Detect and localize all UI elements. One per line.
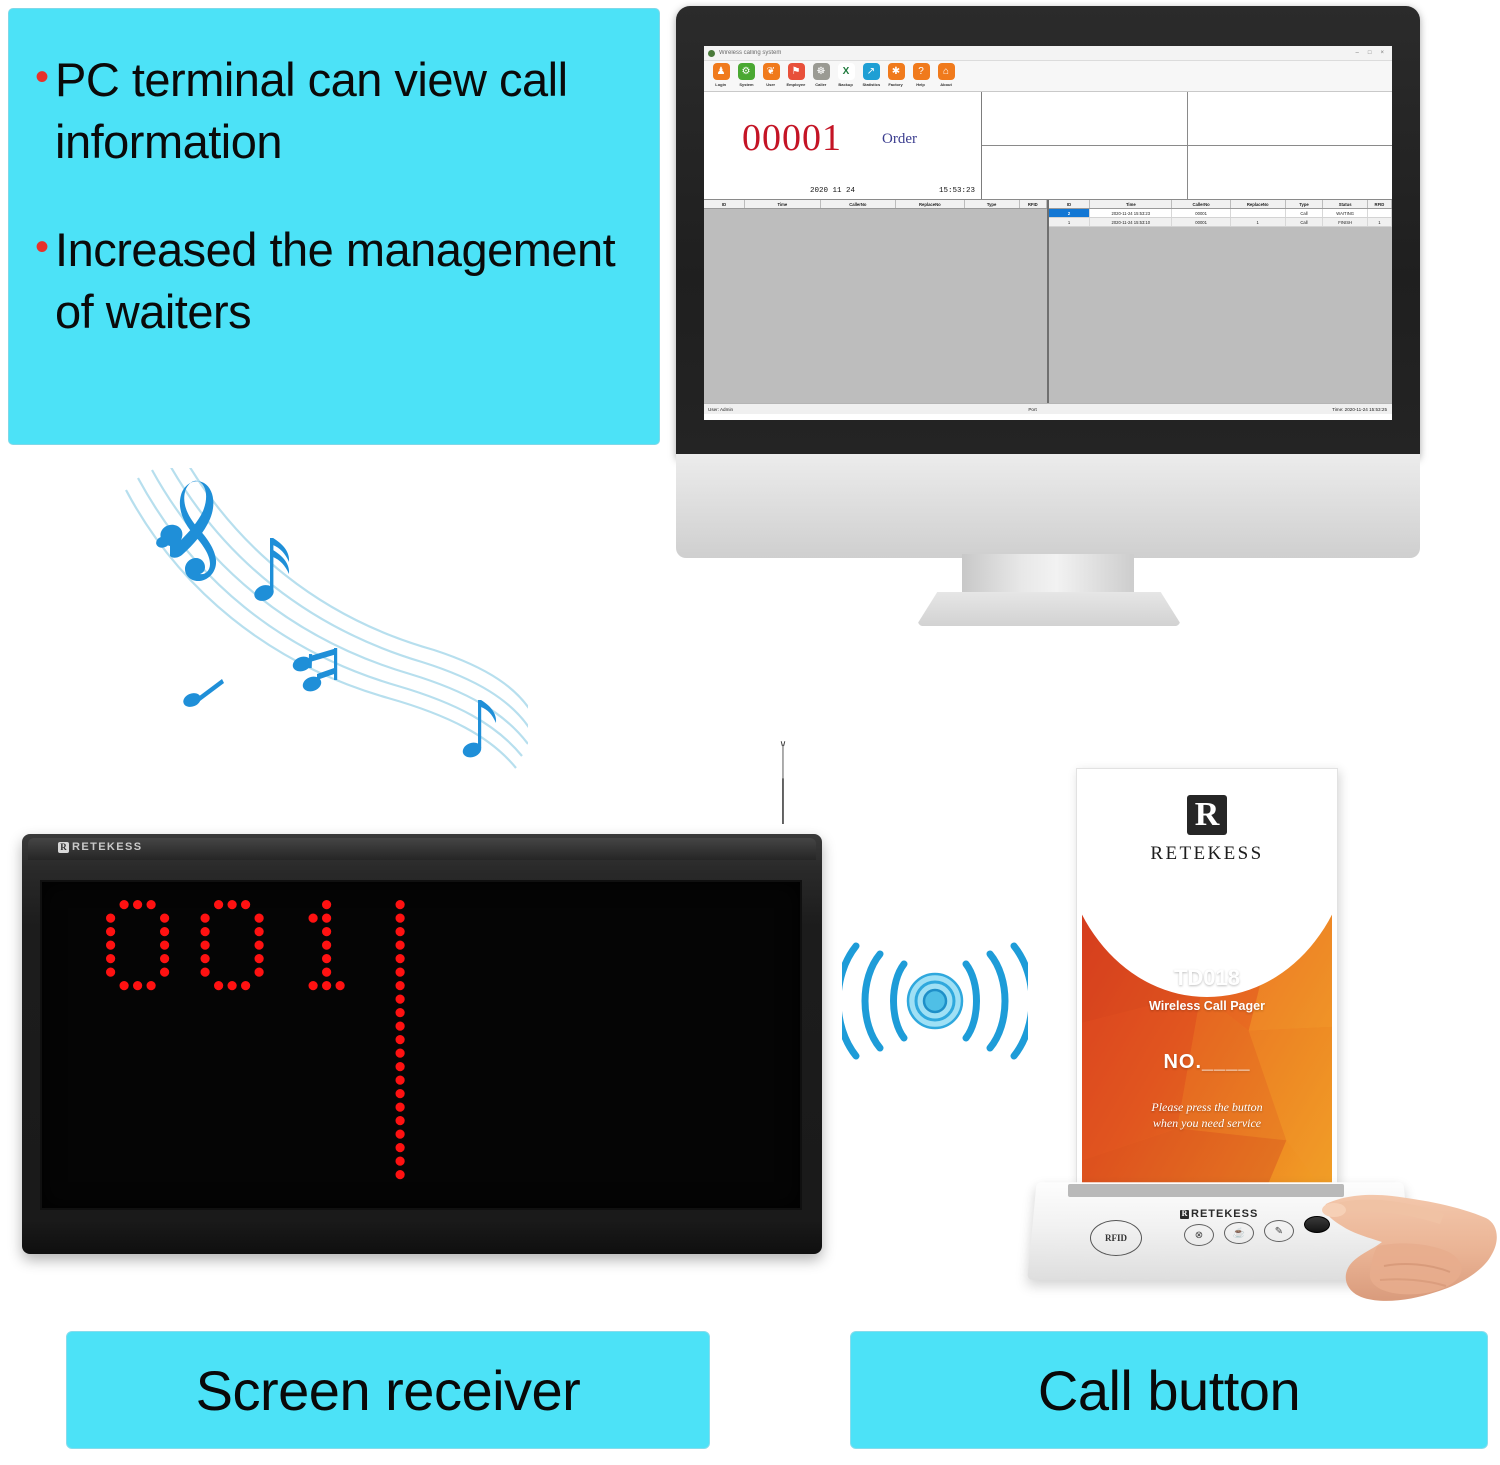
retekess-logo-mark: R (1187, 795, 1227, 835)
window-title: Wireless calling system (719, 50, 781, 56)
excel-icon: X (838, 63, 855, 80)
toolbar-item-label: Factory (889, 82, 903, 87)
display-cell (982, 146, 1188, 199)
table-cell: Call (1286, 218, 1324, 226)
status-time: Time: 2020-11-24 15:53:25 (1332, 407, 1392, 412)
column-header[interactable]: ReplaceNo (896, 200, 965, 208)
column-header[interactable]: CallerNo (1172, 200, 1230, 208)
monitor-bezel: Wireless calling system – □ × ♟Login⚙Sys… (676, 6, 1420, 458)
toolbar-item-statistics[interactable]: ↗Statistics (859, 63, 883, 87)
table-cell: 2020-11-24 15:53:10 (1090, 218, 1172, 226)
column-header[interactable]: Type (965, 200, 1020, 208)
home-icon: ⌂ (938, 63, 955, 80)
table-row[interactable]: 22020-11-24 15:53:2300001CallWAITING (1049, 209, 1392, 218)
bill-service-button[interactable]: ✎ (1264, 1220, 1294, 1242)
column-header[interactable]: RFID (1368, 200, 1392, 208)
status-user: User: Admin (704, 407, 733, 412)
minimize-icon[interactable]: – (1356, 50, 1359, 56)
table-cell: 00001 (1172, 218, 1230, 226)
base-brand-logo: R RETEKESS (1180, 1208, 1258, 1220)
antenna-icon (780, 712, 786, 852)
asterisk-icon: ✱ (888, 63, 905, 80)
table-cell: 2020-11-24 15:53:23 (1090, 209, 1172, 217)
display-time: 15:53:23 (939, 187, 975, 195)
table-cell: WAITING (1323, 209, 1368, 217)
feature-bullet-2: •Increased the management of waiters (35, 219, 633, 343)
close-icon[interactable]: × (1380, 50, 1384, 56)
rfid-reader-area[interactable]: RFID (1090, 1220, 1142, 1256)
retekess-logo-text: RETEKESS (1150, 843, 1263, 865)
column-header[interactable]: RFID (1020, 200, 1047, 208)
display-cell (982, 92, 1188, 145)
feature-bullet-text: PC terminal can view call information (55, 49, 633, 173)
toolbar-item-user[interactable]: ❦User (759, 63, 783, 87)
toolbar-item-caller[interactable]: ☸Caller (809, 63, 833, 87)
receiver-brand-logo: R RETEKESS (58, 841, 143, 853)
software-statusbar: User: Admin Port Time: 2020-11-24 15:53:… (704, 403, 1392, 414)
display-cell (1188, 146, 1393, 199)
chart-icon: ↗ (863, 63, 880, 80)
toolbar-item-help[interactable]: ?Help (909, 63, 933, 87)
toolbar-item-label: Statistics (862, 82, 880, 87)
monitor-chin (676, 454, 1420, 558)
toolbar-item-label: Employee (787, 82, 806, 87)
config-icon: ☸ (813, 63, 830, 80)
caption-screen-receiver: Screen receiver (66, 1331, 710, 1449)
pager-instruction: Please press the button when you need se… (1077, 1099, 1337, 1131)
current-call-cell: 00001 Order 2020 11 24 15:53:23 (704, 92, 982, 199)
feature-bullet-text: Increased the management of waiters (55, 219, 633, 343)
instruction-line-1: Please press the button (1077, 1099, 1337, 1115)
app-icon (708, 50, 715, 57)
led-screen-receiver: R RETEKESS (12, 712, 842, 1312)
call-button-device: R RETEKESS TD018 Wireless Call Pager NO.… (1032, 768, 1452, 1328)
call-press-button[interactable] (1304, 1216, 1330, 1233)
table-cell: 2 (1049, 209, 1090, 217)
toolbar-item-label: Backup (839, 82, 853, 87)
maximize-icon[interactable]: □ (1368, 50, 1372, 56)
bullet-marker-icon: • (35, 65, 49, 89)
call-log-tables: IDTimeCallerNoReplaceNoTypeRFID IDTimeCa… (704, 200, 1392, 403)
receiver-top-bezel (28, 838, 816, 860)
pager-number-field: NO.____ (1077, 1051, 1337, 1074)
pager-display-card: R RETEKESS TD018 Wireless Call Pager NO.… (1076, 768, 1338, 1208)
column-header[interactable]: Time (745, 200, 820, 208)
toolbar-item-backup[interactable]: XBackup (834, 63, 858, 87)
column-header[interactable]: Status (1323, 200, 1368, 208)
column-header[interactable]: ReplaceNo (1231, 200, 1286, 208)
window-controls: – □ × (1356, 50, 1388, 56)
table-cell (1231, 209, 1286, 217)
retekess-logo-mark: R (58, 842, 69, 853)
table-cell (1368, 209, 1392, 217)
rfid-label: RFID (1105, 1233, 1127, 1243)
pager-brand-logo: R RETEKESS (1077, 795, 1337, 865)
bell-service-button[interactable]: ☕ (1224, 1222, 1254, 1244)
toolbar-item-label: Login (716, 82, 727, 87)
current-call-type: Order (882, 131, 917, 148)
pager-model-number: TD018 (1077, 965, 1337, 991)
gear-icon: ⚙ (738, 63, 755, 80)
right-log-table[interactable]: IDTimeCallerNoReplaceNoTypeStatusRFID 22… (1049, 200, 1392, 403)
product-infographic: •PC terminal can view call information•I… (0, 0, 1500, 1465)
table-cell: Call (1286, 209, 1324, 217)
table-row[interactable]: 12020-11-24 15:53:10000011CallFINISH1 (1049, 218, 1392, 227)
display-row (982, 146, 1392, 199)
left-log-table[interactable]: IDTimeCallerNoReplaceNoTypeRFID (704, 200, 1049, 403)
toolbar-item-label: System (739, 82, 753, 87)
bullet-marker-icon: • (35, 235, 49, 259)
table-cell: 1 (1231, 218, 1286, 226)
toolbar-item-label: Caller (815, 82, 826, 87)
toolbar-item-label: About (940, 82, 951, 87)
user-icon: ♟ (713, 63, 730, 80)
instruction-line-2: when you need service (1077, 1115, 1337, 1131)
column-header[interactable]: Time (1090, 200, 1172, 208)
display-cell (1188, 92, 1393, 145)
badge-icon: ⚑ (788, 63, 805, 80)
table-cell: 00001 (1172, 209, 1230, 217)
pc-monitor: Wireless calling system – □ × ♟Login⚙Sys… (676, 6, 1420, 618)
software-titlebar: Wireless calling system – □ × (704, 46, 1392, 61)
feature-callout-box: •PC terminal can view call information•I… (8, 8, 660, 445)
toolbar-item-factory[interactable]: ✱Factory (884, 63, 908, 87)
current-call-number: 00001 (742, 116, 842, 160)
users-icon: ❦ (763, 63, 780, 80)
table-header-row: IDTimeCallerNoReplaceNoTypeRFID (704, 200, 1047, 209)
table-body[interactable]: 22020-11-24 15:53:2300001CallWAITING1202… (1049, 209, 1392, 403)
led-display-screen (40, 880, 802, 1210)
monitor-screen: Wireless calling system – □ × ♟Login⚙Sys… (704, 46, 1392, 420)
software-toolbar: ♟Login⚙System❦User⚑Employee☸CallerXBacku… (704, 61, 1392, 92)
call-display-panel: 00001 Order 2020 11 24 15:53:23 (704, 92, 1392, 200)
pager-subtitle: Wireless Call Pager (1077, 999, 1337, 1013)
toolbar-item-system[interactable]: ⚙System (734, 63, 758, 87)
wireless-signal-icon (842, 938, 1028, 1064)
monitor-stand-base (916, 592, 1182, 626)
hand-pressing-icon (1320, 1180, 1500, 1325)
retekess-logo-text: RETEKESS (72, 841, 143, 853)
toolbar-item-login[interactable]: ♟Login (709, 63, 733, 87)
table-header-row: IDTimeCallerNoReplaceNoTypeStatusRFID (1049, 200, 1392, 209)
display-date: 2020 11 24 (810, 187, 855, 195)
toolbar-item-label: Help (917, 82, 926, 87)
caption-text: Call button (1038, 1358, 1300, 1423)
table-cell: FINISH (1323, 218, 1368, 226)
pager-card-slot (1068, 1184, 1344, 1197)
empty-call-cells (982, 92, 1392, 199)
status-port: Port (1028, 407, 1036, 412)
question-icon: ? (913, 63, 930, 80)
toolbar-item-employee[interactable]: ⚑Employee (784, 63, 808, 87)
led-digits (106, 900, 746, 1200)
cancel-service-button[interactable]: ⊗ (1184, 1224, 1214, 1246)
toolbar-item-about[interactable]: ⌂About (934, 63, 958, 87)
display-row (982, 92, 1392, 146)
caption-text: Screen receiver (196, 1358, 581, 1423)
column-header[interactable]: ID (1049, 200, 1090, 208)
retekess-logo-text: RETEKESS (1191, 1208, 1258, 1220)
caption-call-button: Call button (850, 1331, 1488, 1449)
feature-bullet-1: •PC terminal can view call information (35, 49, 633, 173)
column-header[interactable]: CallerNo (821, 200, 896, 208)
retekess-logo-mark: R (1180, 1210, 1189, 1219)
table-cell: 1 (1049, 218, 1090, 226)
column-header[interactable]: ID (704, 200, 745, 208)
column-header[interactable]: Type (1286, 200, 1324, 208)
table-cell: 1 (1368, 218, 1392, 226)
toolbar-item-label: User (767, 82, 776, 87)
table-body[interactable] (704, 209, 1047, 403)
